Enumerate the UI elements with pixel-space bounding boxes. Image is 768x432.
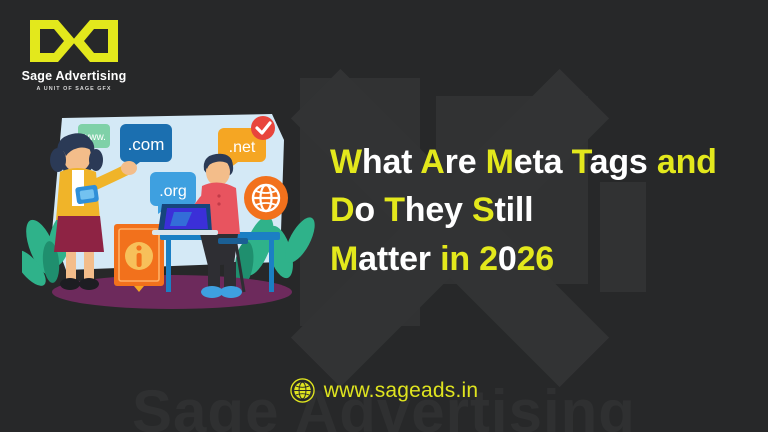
- headline-run: T: [384, 191, 405, 229]
- headline-run: atter: [358, 240, 440, 278]
- headline-run: M: [330, 240, 358, 278]
- headline-run: hat: [362, 143, 420, 181]
- headline-line-2: Do They Still: [330, 186, 760, 234]
- headline-run: hey: [405, 191, 472, 229]
- logo-tagline: A UNIT OF SAGE GFX: [14, 86, 134, 92]
- headline-run: o: [354, 191, 384, 229]
- headline-run: ags: [590, 143, 657, 181]
- headline-run: 0: [498, 240, 517, 278]
- headline-run: S: [472, 191, 494, 229]
- brand-logo[interactable]: Sage Advertising A UNIT OF SAGE GFX: [14, 18, 134, 92]
- headline-run: re: [445, 143, 486, 181]
- headline-line-1: What Are Meta Tags and: [330, 138, 760, 186]
- headline-run: 2: [479, 240, 498, 278]
- dxd-infinity-mark: [28, 18, 120, 64]
- headline-run: T: [572, 143, 590, 181]
- footer-url-bar[interactable]: www.sageads.in: [0, 378, 768, 403]
- logo-brand-name: Sage Advertising: [14, 69, 134, 83]
- globe-icon: [290, 378, 315, 403]
- headline-run: W: [330, 143, 362, 181]
- headline-run: A: [420, 143, 444, 181]
- headline-run: and: [657, 143, 717, 181]
- headline-line-3: Matter in 2026: [330, 235, 760, 283]
- headline-run: D: [330, 191, 354, 229]
- page-title: What Are Meta Tags and Do They Still Mat…: [330, 138, 760, 283]
- globe-badge-icon: [244, 176, 288, 220]
- svg-text:.net: .net: [229, 139, 256, 156]
- svg-text:.com: .com: [128, 135, 165, 154]
- banner-canvas: Sage Advertising Sage Advertising A UNIT…: [0, 0, 768, 432]
- headline-run: M: [486, 143, 514, 181]
- headline-run: in: [440, 240, 479, 278]
- headline-run: 26: [517, 240, 554, 278]
- seo-domain-names-illustration: www. .com .org .net: [22, 112, 322, 320]
- laptop: [152, 204, 218, 235]
- svg-text:.org: .org: [159, 183, 187, 200]
- footer-url-text: www.sageads.in: [324, 379, 479, 403]
- check-badge-icon: [251, 116, 275, 140]
- headline-run: till: [494, 191, 533, 229]
- headline-run: eta: [514, 143, 572, 181]
